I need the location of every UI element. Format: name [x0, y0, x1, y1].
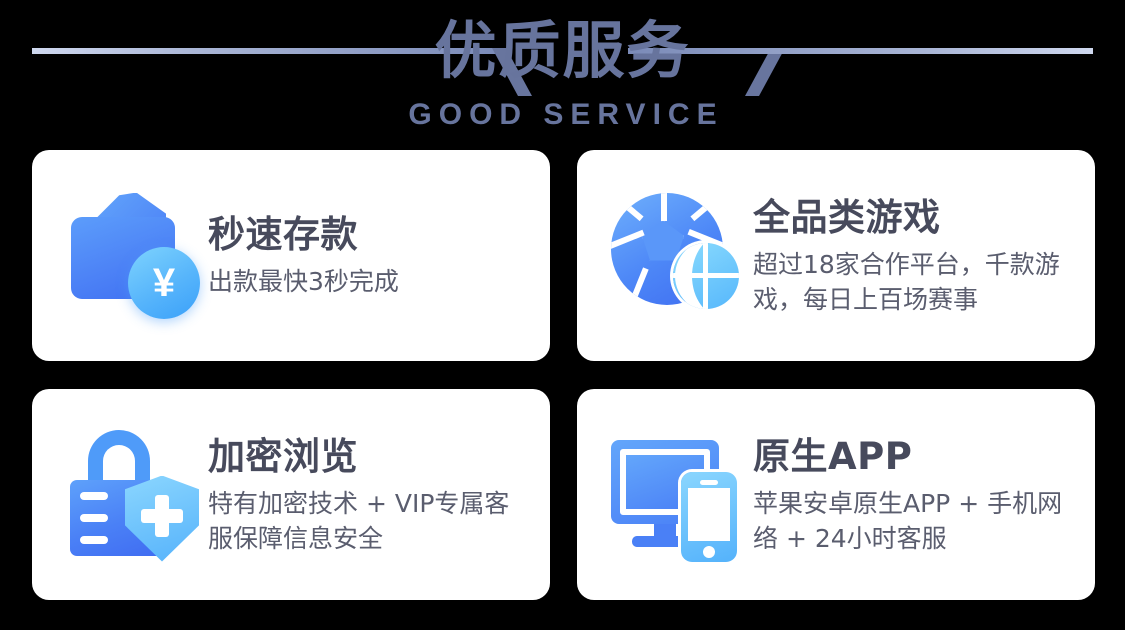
service-card-encryption[interactable]: 加密浏览 特有加密技术 + VIP专属客服保障信息安全 — [32, 389, 550, 600]
phone-home-button-shape — [703, 546, 715, 558]
service-card-desc: 苹果安卓原生APP + 手机网络 + 24小时客服 — [753, 486, 1077, 556]
service-card-games[interactable]: 全品类游戏 超过18家合作平台，千款游戏，每日上百场赛事 — [577, 150, 1095, 361]
service-card-text: 全品类游戏 超过18家合作平台，千款游戏，每日上百场赛事 — [749, 195, 1077, 317]
service-card-text: 原生APP 苹果安卓原生APP + 手机网络 + 24小时客服 — [749, 434, 1077, 556]
service-card-grid: ¥ 秒速存款 出款最快3秒完成 — [32, 150, 1095, 600]
yen-coin-icon: ¥ — [128, 247, 200, 319]
service-card-title: 秒速存款 — [208, 212, 532, 258]
service-card-title: 原生APP — [753, 434, 1077, 480]
service-card-deposit[interactable]: ¥ 秒速存款 出款最快3秒完成 — [32, 150, 550, 361]
service-card-desc: 超过18家合作平台，千款游戏，每日上百场赛事 — [753, 247, 1077, 317]
page-title: 优质服务 — [0, 8, 1125, 94]
phone-speaker-shape — [700, 480, 718, 485]
service-card-desc: 特有加密技术 + VIP专属客服保障信息安全 — [208, 486, 532, 556]
page-header: 优质服务 GOOD SERVICE — [0, 0, 1125, 145]
service-card-title: 加密浏览 — [208, 434, 532, 480]
phone-shape — [681, 472, 737, 562]
basketball-shape — [673, 243, 739, 309]
monitor-phone-icon — [607, 424, 749, 566]
service-card-native-app[interactable]: 原生APP 苹果安卓原生APP + 手机网络 + 24小时客服 — [577, 389, 1095, 600]
page-subtitle: GOOD SERVICE — [0, 96, 1125, 134]
wallet-yen-icon: ¥ — [62, 185, 204, 327]
service-card-desc: 出款最快3秒完成 — [208, 264, 532, 299]
phone-screen-shape — [688, 488, 730, 541]
lock-shield-icon — [62, 424, 204, 566]
service-card-title: 全品类游戏 — [753, 195, 1077, 241]
soccer-basketball-icon — [607, 185, 749, 327]
service-card-text: 加密浏览 特有加密技术 + VIP专属客服保障信息安全 — [204, 434, 532, 556]
service-card-text: 秒速存款 出款最快3秒完成 — [204, 212, 532, 299]
